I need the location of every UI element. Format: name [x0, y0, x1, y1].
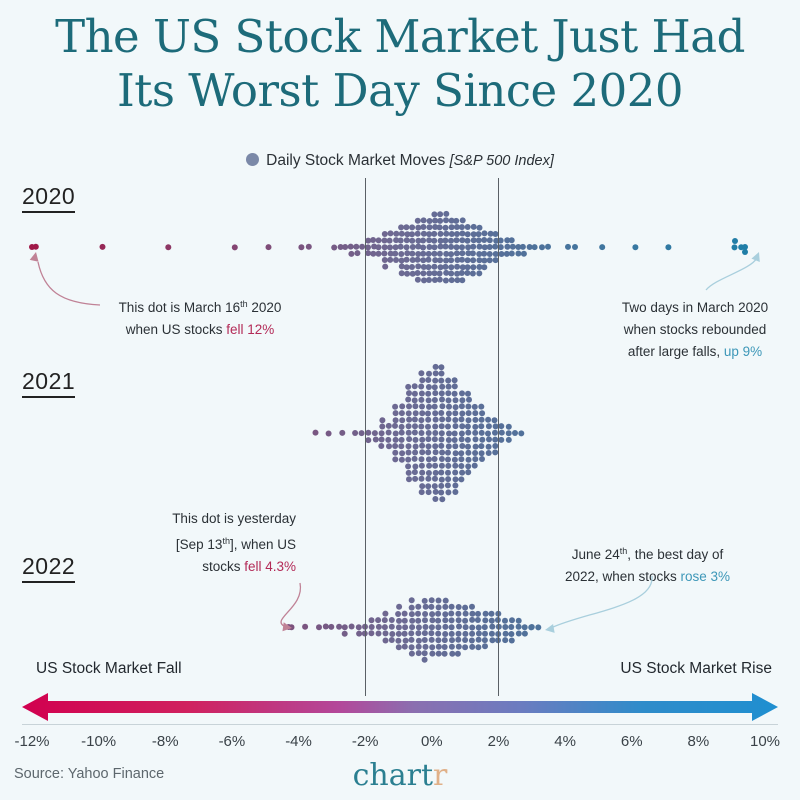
swarm-dot — [448, 251, 454, 257]
swarm-dot — [492, 417, 498, 423]
swarm-dot — [459, 436, 465, 442]
swarm-dot — [431, 211, 437, 217]
swarm-dot — [399, 410, 405, 416]
swarm-dot — [462, 618, 468, 624]
swarm-dot — [412, 456, 418, 462]
gridline--2 — [365, 178, 366, 696]
swarm-dot — [431, 231, 437, 237]
swarm-dot — [266, 244, 272, 250]
swarm-dot — [439, 371, 445, 377]
swarm-dot — [469, 604, 475, 610]
swarm-dot — [472, 404, 478, 410]
annotation-march-16: This dot is March 16th 2020 when US stoc… — [104, 293, 296, 341]
swarm-dot — [437, 251, 443, 257]
swarm-dot — [413, 410, 419, 416]
swarm-dot — [449, 277, 455, 283]
swarm-dot — [470, 257, 476, 263]
swarm-dot — [466, 397, 472, 403]
swarm-dot — [393, 437, 399, 443]
swarm-dot — [421, 231, 427, 237]
swarm-dot — [425, 391, 431, 397]
swarm-dot — [459, 257, 465, 263]
swarm-dot — [422, 657, 428, 663]
swarm-dot — [418, 417, 424, 423]
swarm-dot — [433, 449, 439, 455]
axis-tick-neg8pct: -8% — [152, 733, 179, 750]
swarm-dot — [389, 617, 395, 623]
swarm-dot — [100, 244, 106, 250]
swarm-dot — [449, 651, 455, 657]
gridline-2 — [498, 178, 499, 696]
swarm-dot — [465, 424, 471, 430]
swarm-dot — [433, 470, 439, 476]
swarm-dot — [419, 476, 425, 482]
swarm-dot — [436, 651, 442, 657]
swarm-dot — [409, 224, 415, 230]
swarm-dot — [432, 496, 438, 502]
swarm-dot — [389, 624, 395, 630]
swarm-dot — [419, 391, 425, 397]
swarm-dot — [435, 631, 441, 637]
swarm-dot — [437, 257, 443, 263]
swarm-dot — [475, 611, 481, 617]
swarm-dot — [382, 257, 388, 263]
swarm-dot — [406, 430, 412, 436]
swarm-dot — [472, 410, 478, 416]
swarm-dot — [412, 423, 418, 429]
swarm-dot — [368, 630, 374, 636]
swarm-dot — [448, 611, 454, 617]
swarm-dot — [418, 424, 424, 430]
swarm-dot — [429, 597, 435, 603]
swarm-dot — [489, 631, 495, 637]
swarm-dot — [458, 476, 464, 482]
swarm-dot — [665, 244, 671, 250]
swarm-dot — [395, 611, 401, 617]
swarm-dot — [453, 404, 459, 410]
swarm-dot — [442, 651, 448, 657]
swarm-dot — [431, 251, 437, 257]
swarm-dot — [502, 624, 508, 630]
swarm-dot — [469, 638, 475, 644]
axis-tick-8pct: 8% — [688, 733, 710, 750]
swarm-dot — [429, 611, 435, 617]
swarm-dot — [459, 416, 465, 422]
swarm-dot — [405, 397, 411, 403]
swarm-dot — [452, 463, 458, 469]
axis-tick-0pct: 0% — [421, 733, 443, 750]
swarm-dot — [432, 390, 438, 396]
swarm-dot — [459, 231, 465, 237]
swarm-dot — [509, 638, 515, 644]
swarm-dot — [426, 231, 432, 237]
swarm-dot — [452, 377, 458, 383]
swarm-dot — [470, 244, 476, 250]
swarm-dot — [478, 423, 484, 429]
swarm-dot — [462, 631, 468, 637]
swarm-dot — [449, 631, 455, 637]
swarm-dot — [402, 611, 408, 617]
swarm-dot — [509, 617, 515, 623]
swarm-dot — [454, 244, 460, 250]
swarm-dot — [415, 257, 421, 263]
swarm-dot — [599, 244, 605, 250]
swarm-dot — [439, 384, 445, 390]
swarm-dot — [478, 404, 484, 410]
swarm-dot — [446, 397, 452, 403]
swarm-dot — [545, 244, 551, 250]
swarm-dot — [485, 431, 491, 437]
swarm-dot — [445, 424, 451, 430]
swarm-dot — [342, 624, 348, 630]
swarm-dot — [520, 244, 526, 250]
swarm-dot — [382, 611, 388, 617]
swarm-dot — [471, 224, 477, 230]
swarm-dot — [454, 237, 460, 243]
legend-index: [S&P 500 Index] — [450, 153, 554, 169]
swarm-dot — [487, 244, 493, 250]
swarm-dot — [426, 270, 432, 276]
title-line-1: The US Stock Market Just Had — [55, 10, 745, 63]
swarm-dot — [336, 624, 342, 630]
axis-tick-6pct: 6% — [621, 733, 643, 750]
swarm-dot — [373, 437, 379, 443]
legend-dot-icon — [246, 153, 259, 166]
swarm-dot — [436, 598, 442, 604]
swarm-dot — [416, 638, 422, 644]
swarm-dot — [432, 430, 438, 436]
swarm-dot — [415, 630, 421, 636]
swarm-dot — [466, 410, 472, 416]
swarm-dot — [376, 237, 382, 243]
swarm-dot — [369, 617, 375, 623]
swarm-dot — [432, 424, 438, 430]
swarm-dot — [412, 450, 418, 456]
swarm-dot — [446, 411, 452, 417]
swarm-dot — [426, 251, 432, 257]
swarm-dot — [448, 238, 454, 244]
swarm-dot — [422, 630, 428, 636]
swarm-dot — [438, 410, 444, 416]
swarm-dot — [409, 644, 415, 650]
swarm-dot — [433, 417, 439, 423]
swarm-dot — [449, 604, 455, 610]
swarm-dot — [409, 605, 415, 611]
swarm-dot — [465, 450, 471, 456]
swarm-dot — [412, 417, 418, 423]
swarm-dot — [429, 624, 435, 630]
swarm-dot — [376, 631, 382, 637]
swarm-dot — [396, 624, 402, 630]
swarm-dot — [438, 378, 444, 384]
swarm-dot — [449, 224, 455, 230]
swarm-dot — [443, 264, 449, 270]
swarm-dot — [485, 417, 491, 423]
swarm-dot — [476, 231, 482, 237]
swarm-dot — [422, 598, 428, 604]
swarm-dot — [399, 450, 405, 456]
swarm-dot — [459, 224, 465, 230]
swarm-dot — [405, 384, 411, 390]
swarm-dot — [421, 217, 427, 223]
swarm-dot — [416, 624, 422, 630]
swarm-dot — [453, 397, 459, 403]
annotation-rebound-line3: after large falls, up 9% — [596, 341, 794, 363]
swarm-dot — [454, 250, 460, 256]
swarm-dot — [420, 245, 426, 251]
swarm-dot — [433, 370, 439, 376]
swarm-dot — [382, 624, 388, 630]
swarm-dot — [459, 250, 465, 256]
swarm-dot — [422, 637, 428, 643]
swarm-dot — [472, 430, 478, 436]
swarm-dot — [406, 410, 412, 416]
swarm-dot — [429, 617, 435, 623]
swarm-dot — [378, 443, 384, 449]
swarm-dot — [326, 431, 332, 437]
swarm-dot — [382, 617, 388, 623]
swarm-dot — [498, 423, 504, 429]
swarm-dot — [412, 464, 418, 470]
swarm-dot — [487, 257, 493, 263]
swarm-dot — [316, 624, 322, 630]
swarm-dot — [508, 624, 514, 630]
swarm-dot — [439, 456, 445, 462]
swarm-dot — [454, 231, 460, 237]
swarm-dot — [419, 489, 425, 495]
swarm-dot — [445, 476, 451, 482]
swarm-dot — [465, 238, 471, 244]
swarm-dot — [379, 437, 385, 443]
swarm-dot — [413, 444, 419, 450]
swarm-dot — [442, 611, 448, 617]
swarm-dot — [458, 450, 464, 456]
swarm-dot — [436, 604, 442, 610]
swarm-dot — [453, 450, 459, 456]
swarm-dot — [412, 469, 418, 475]
swarm-dot — [445, 470, 451, 476]
swarm-dot — [396, 631, 402, 637]
swarm-dot — [479, 417, 485, 423]
swarm-dot — [465, 469, 471, 475]
swarm-dot — [409, 597, 415, 603]
swarm-dot — [375, 617, 381, 623]
swarm-dot — [473, 436, 479, 442]
swarm-dot — [535, 624, 541, 630]
swarm-dot — [382, 238, 388, 244]
swarm-dot — [419, 377, 425, 383]
annotation-march-16-line2: when US stocks fell 12% — [104, 319, 296, 341]
swarm-dot — [432, 483, 438, 489]
swarm-dot — [404, 237, 410, 243]
swarm-dot — [486, 444, 492, 450]
swarm-dot — [483, 611, 489, 617]
swarm-dot — [446, 384, 452, 390]
swarm-dot — [437, 224, 443, 230]
swarm-dot — [502, 618, 508, 624]
swarm-dot — [404, 271, 410, 277]
swarm-dot — [409, 231, 415, 237]
swarm-dot — [459, 277, 465, 283]
swarm-dot — [418, 384, 424, 390]
axis-baseline — [22, 724, 778, 725]
swarm-dot — [439, 423, 445, 429]
swarm-dot — [418, 397, 424, 403]
swarm-dot — [522, 631, 528, 637]
chartr-logo-part2: r — [433, 758, 447, 793]
swarm-dot — [165, 244, 171, 250]
swarm-dot — [382, 231, 388, 237]
gradient-arrow-shape — [22, 693, 778, 721]
swarm-dot — [410, 244, 416, 250]
swarm-dot — [426, 397, 432, 403]
swarm-dot — [359, 430, 365, 436]
swarm-dot — [406, 390, 412, 396]
swarm-dot — [437, 211, 443, 217]
swarm-dot — [486, 436, 492, 442]
swarm-dot — [392, 450, 398, 456]
swarm-dot — [459, 411, 465, 417]
swarm-dot — [393, 231, 399, 237]
swarm-dot — [482, 631, 488, 637]
legend: Daily Stock Market Moves [S&P 500 Index] — [0, 152, 800, 170]
swarm-dot — [473, 444, 479, 450]
swarm-dot — [442, 637, 448, 643]
swarm-dot — [406, 470, 412, 476]
swarm-dot — [463, 624, 469, 630]
swarm-dot — [445, 416, 451, 422]
axis-tick-neg6pct: -6% — [219, 733, 246, 750]
swarm-dot — [426, 237, 432, 243]
swarm-dot — [395, 638, 401, 644]
swarm-dot — [442, 644, 448, 650]
swarm-dot — [504, 244, 510, 250]
swarm-dot — [409, 651, 415, 657]
swarm-dot — [479, 450, 485, 456]
swarm-dot — [479, 437, 485, 443]
swarm-dot — [398, 443, 404, 449]
swarm-dot — [460, 217, 466, 223]
swarm-dot — [432, 384, 438, 390]
swarm-dot — [456, 644, 462, 650]
swarm-dot — [425, 476, 431, 482]
swarm-dot — [393, 244, 399, 250]
swarm-dot — [452, 483, 458, 489]
swarm-dot — [469, 625, 475, 631]
swarm-dot — [422, 617, 428, 623]
swarm-dot — [462, 637, 468, 643]
swarm-dot — [439, 450, 445, 456]
swarm-dot — [465, 430, 471, 436]
swarm-dot — [521, 251, 527, 257]
swarm-dot — [416, 644, 422, 650]
swarm-dot — [532, 244, 538, 250]
swarm-dot — [415, 277, 421, 283]
swarm-dot — [409, 618, 415, 624]
swarm-dot — [446, 431, 452, 437]
swarm-dot — [453, 218, 459, 224]
swarm-dot — [462, 605, 468, 611]
swarm-dot — [419, 410, 425, 416]
swarm-dot — [466, 417, 472, 423]
swarm-dot — [379, 430, 385, 436]
swarm-dot — [406, 436, 412, 442]
swarm-dot — [465, 444, 471, 450]
swarm-dot — [438, 364, 444, 370]
swarm-dot — [412, 476, 418, 482]
swarm-dot — [413, 437, 419, 443]
swarm-dot — [419, 449, 425, 455]
swarm-dot — [455, 637, 461, 643]
swarm-dot — [443, 598, 449, 604]
swarm-dot — [376, 624, 382, 630]
swarm-dot — [429, 651, 435, 657]
swarm-dot — [415, 263, 421, 269]
swarm-dot — [482, 617, 488, 623]
swarm-dot — [425, 483, 431, 489]
swarm-dot — [419, 404, 425, 410]
swarm-dot — [509, 251, 515, 257]
swarm-dot — [409, 637, 415, 643]
swarm-dot — [508, 631, 514, 637]
swarm-dot — [403, 638, 409, 644]
swarm-dot — [482, 624, 488, 630]
axis-tick-neg4pct: -4% — [285, 733, 312, 750]
swarm-dot — [477, 244, 483, 250]
swarm-dot — [399, 457, 405, 463]
swarm-dot — [432, 410, 438, 416]
swarm-dot — [419, 437, 425, 443]
swarm-dot — [487, 237, 493, 243]
swarm-dot — [381, 251, 387, 257]
swarm-dot — [365, 430, 371, 436]
swarm-dot — [399, 424, 405, 430]
swarm-dot — [443, 244, 449, 250]
swarm-dot — [435, 637, 441, 643]
swarm-dot — [420, 257, 426, 263]
swarm-dot — [489, 624, 495, 630]
swarm-dot — [459, 237, 465, 243]
swarm-dot — [454, 264, 460, 270]
swarm-dot — [425, 449, 431, 455]
swarm-dot — [465, 231, 471, 237]
swarm-dot — [392, 456, 398, 462]
swarm-dot-highlighted — [286, 624, 292, 630]
swarm-dot — [482, 230, 488, 236]
swarm-dot — [446, 443, 452, 449]
swarm-dot — [469, 611, 475, 617]
swarm-dot — [472, 463, 478, 469]
swarm-dot — [406, 417, 412, 423]
swarm-dot — [370, 237, 376, 243]
swarm-dot — [445, 489, 451, 495]
swarm-dot — [459, 403, 465, 409]
swarm-dot — [426, 264, 432, 270]
swarm-dot — [406, 423, 412, 429]
swarm-dot — [415, 270, 421, 276]
swarm-dot — [409, 238, 415, 244]
swarm-dot — [464, 270, 470, 276]
swarm-dot-highlighted — [29, 244, 35, 250]
swarm-dot — [370, 251, 376, 257]
swarm-dot — [405, 463, 411, 469]
swarm-dot — [448, 271, 454, 277]
swarm-dot — [408, 630, 414, 636]
swarm-dot — [478, 443, 484, 449]
swarm-dot — [481, 258, 487, 264]
swarm-dot — [412, 383, 418, 389]
swarm-dot — [459, 423, 465, 429]
